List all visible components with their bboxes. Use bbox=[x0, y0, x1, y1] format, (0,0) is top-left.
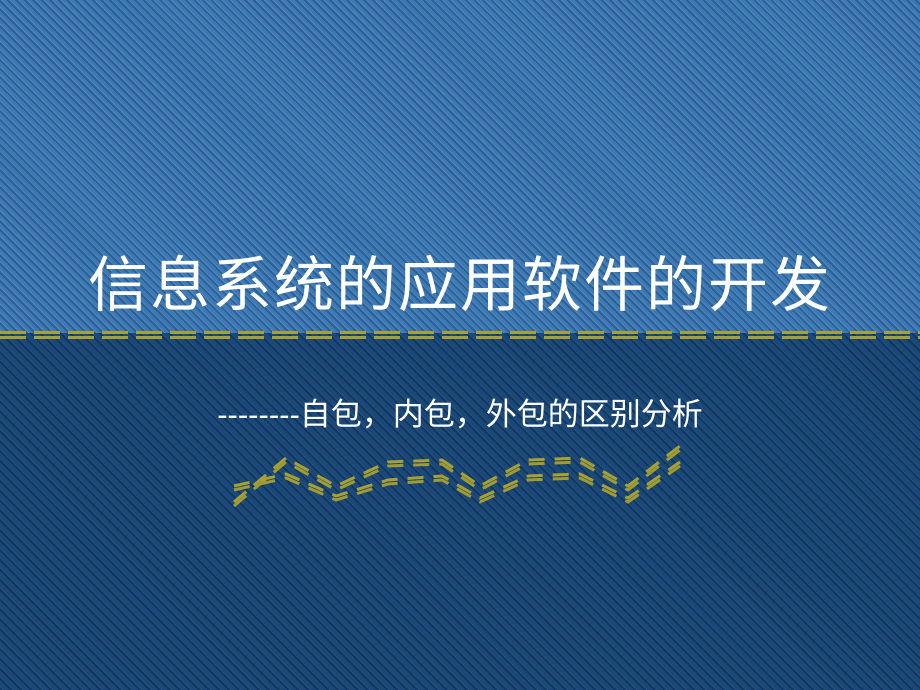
title-divider-rule bbox=[0, 331, 920, 340]
divider-dash-line-lower bbox=[0, 336, 920, 339]
slide-subtitle: --------自包，内包，外包的区别分析 bbox=[0, 394, 920, 436]
slide-title: 信息系统的应用软件的开发 bbox=[0, 249, 920, 323]
zigzag-dashed-ornament bbox=[228, 440, 698, 510]
slide-background-lower bbox=[0, 333, 920, 690]
presentation-slide: 信息系统的应用软件的开发 --------自包，内包，外包的区别分析 bbox=[0, 0, 920, 690]
divider-dash-line-upper bbox=[0, 331, 920, 334]
